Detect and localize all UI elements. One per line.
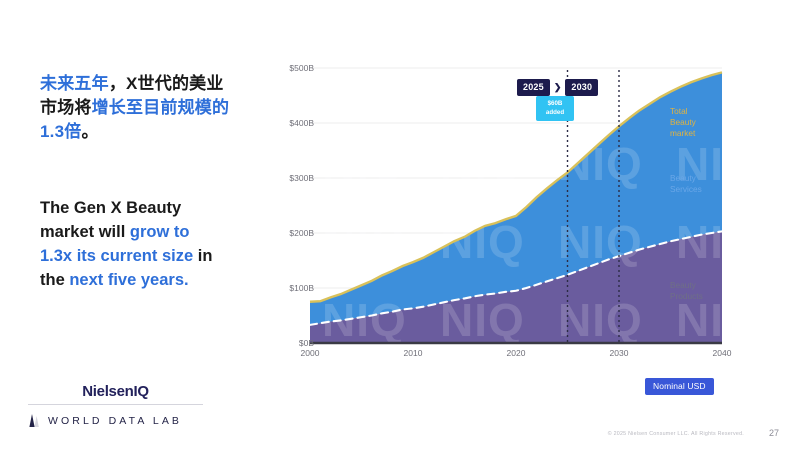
- svg-text:NIQ: NIQ: [558, 138, 643, 190]
- headline-cn-highlight-1: 未来五年: [40, 74, 109, 93]
- series-label-products: Beauty Products: [670, 280, 703, 302]
- chevron-right-icon: ❯: [554, 82, 562, 93]
- growth-added-word: added: [541, 108, 569, 117]
- y-axis-tick: $0B: [268, 338, 314, 348]
- year-badge-start[interactable]: 2025: [517, 79, 550, 96]
- x-axis-tick: 2040: [702, 348, 742, 358]
- svg-text:NIQ: NIQ: [440, 294, 525, 346]
- svg-text:NIQ: NIQ: [676, 216, 761, 268]
- svg-text:NIQ: NIQ: [558, 294, 643, 346]
- growth-added-amount: $60B: [541, 99, 569, 108]
- svg-text:NIQ: NIQ: [440, 138, 525, 190]
- world-data-lab-label: WORLD DATA LAB: [48, 415, 182, 427]
- svg-text:NIQ: NIQ: [322, 294, 407, 346]
- x-axis-tick: 2010: [393, 348, 433, 358]
- nielseniq-logo: NielsenIQ: [28, 383, 203, 404]
- logo-block: NielsenIQ WORLD DATA LAB: [28, 383, 203, 428]
- year-badge-end[interactable]: 2030: [565, 79, 598, 96]
- world-data-lab-logo: WORLD DATA LAB: [28, 405, 203, 428]
- obelisk-icon: [28, 413, 41, 428]
- copyright-text: © 2025 Nielsen Consumer LLC. All Rights …: [608, 431, 744, 437]
- slide-canvas: 未来五年，X世代的美业市场将增长至目前规模的1.3倍。 The Gen X Be…: [0, 0, 799, 450]
- y-axis-tick: $300B: [268, 173, 314, 183]
- left-text-panel: 未来五年，X世代的美业市场将增长至目前规模的1.3倍。 The Gen X Be…: [40, 72, 230, 144]
- svg-text:NIQ: NIQ: [322, 216, 407, 268]
- series-label-services: Beauty Services: [670, 173, 702, 195]
- x-axis-tick: 2030: [599, 348, 639, 358]
- y-axis-tick: $400B: [268, 118, 314, 128]
- stacked-area-chart: NIQNIQNIQNIQNIQNIQNIQNIQNIQNIQNIQNIQ NIQ…: [262, 60, 762, 360]
- y-axis-tick: $200B: [268, 228, 314, 238]
- chart-plot-area: NIQNIQNIQNIQNIQNIQNIQNIQNIQNIQNIQNIQ NIQ…: [262, 60, 762, 360]
- y-axis-tick: $100B: [268, 283, 314, 293]
- series-label-total: Total Beauty market: [670, 106, 696, 140]
- headline-chinese: 未来五年，X世代的美业市场将增长至目前规模的1.3倍。: [40, 72, 230, 144]
- year-range-badges: 2025 ❯ 2030: [517, 79, 598, 96]
- x-axis-tick: 2020: [496, 348, 536, 358]
- headline-english: The Gen X Beauty market will grow to 1.3…: [40, 197, 225, 293]
- nominal-usd-badge: Nominal USD: [645, 378, 714, 395]
- growth-added-badge: $60B added: [536, 96, 574, 121]
- y-axis-tick: $500B: [268, 63, 314, 73]
- svg-text:NIQ: NIQ: [558, 216, 643, 268]
- svg-text:NIQ: NIQ: [322, 138, 407, 190]
- x-axis-tick: 2000: [290, 348, 330, 358]
- headline-en-highlight-2: next five years.: [69, 271, 188, 289]
- page-number: 27: [769, 428, 779, 438]
- headline-cn-plain-2: 。: [81, 122, 98, 141]
